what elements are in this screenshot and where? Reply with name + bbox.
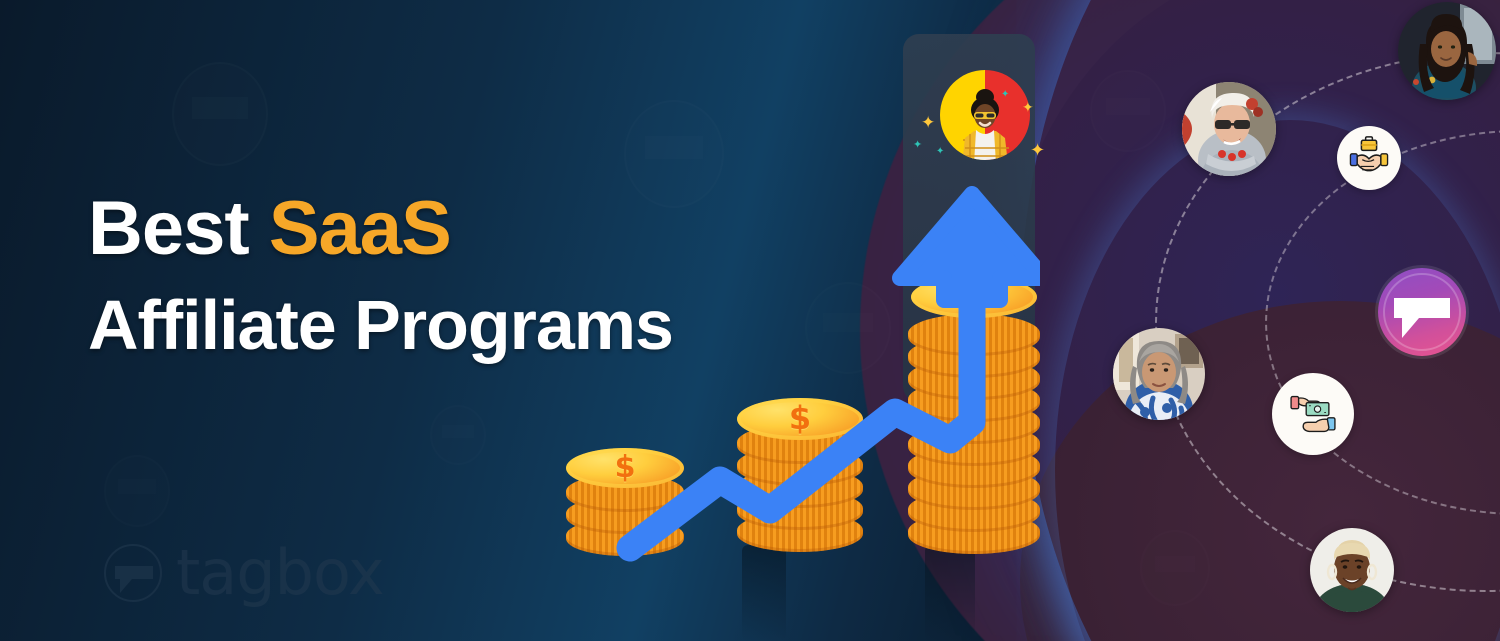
avatar-creator-2-image [1182, 82, 1276, 176]
watermark-tag-icon [430, 405, 486, 465]
avatar-creator-4-image [1310, 528, 1394, 612]
avatar-creator-1[interactable] [1398, 2, 1496, 100]
handshake-briefcase-glyph [1342, 131, 1396, 185]
sparkle-icon: ✦ [1030, 140, 1045, 161]
tagbox-tag-icon [104, 544, 162, 602]
avatar-creator-2[interactable] [1182, 82, 1276, 176]
avatar-creator-4[interactable] [1310, 528, 1394, 612]
sparkle-icon: ✦ [913, 138, 922, 151]
hero-banner: $ $ $ [0, 0, 1500, 641]
watermark-tag-icon [1090, 70, 1166, 152]
sparkle-icon: ✦ [1022, 99, 1034, 116]
avatar-creator-3[interactable] [1113, 328, 1205, 420]
avatar-creator-1-image [1398, 2, 1496, 100]
tagbox-tag-bar [115, 566, 153, 579]
tagbox-tag-tail [120, 579, 132, 593]
watermark-tag-icon [172, 62, 268, 166]
cash-in-hand-glyph [1282, 383, 1344, 445]
handshake-briefcase-icon[interactable] [1337, 126, 1401, 190]
sparkle-icon: ✦ [1001, 89, 1009, 100]
headline-line-1: Best SaaS [88, 190, 673, 268]
tagbox-badge-tag-shape [1394, 298, 1450, 318]
sparkle-icon: ✦ [921, 113, 935, 133]
watermark-tag-icon [104, 455, 170, 527]
headline-prefix: Best [88, 186, 269, 271]
headline-line-2: Affiliate Programs [88, 290, 673, 361]
watermark-tag-icon [1140, 530, 1210, 606]
avatar-creator-3-image [1113, 328, 1205, 420]
tagbox-logo-watermark: tagbox [104, 536, 384, 609]
cash-in-hand-icon[interactable] [1272, 373, 1354, 455]
tagbox-badge-icon[interactable] [1378, 268, 1466, 356]
tagbox-badge-tag-tail [1402, 318, 1419, 338]
hero-avatar [940, 70, 1030, 160]
page-title: Best SaaS Affiliate Programs [88, 190, 673, 361]
sparkle-icon: ✦ [936, 146, 944, 157]
headline-accent: SaaS [269, 186, 451, 271]
tagbox-wordmark: tagbox [176, 536, 384, 609]
